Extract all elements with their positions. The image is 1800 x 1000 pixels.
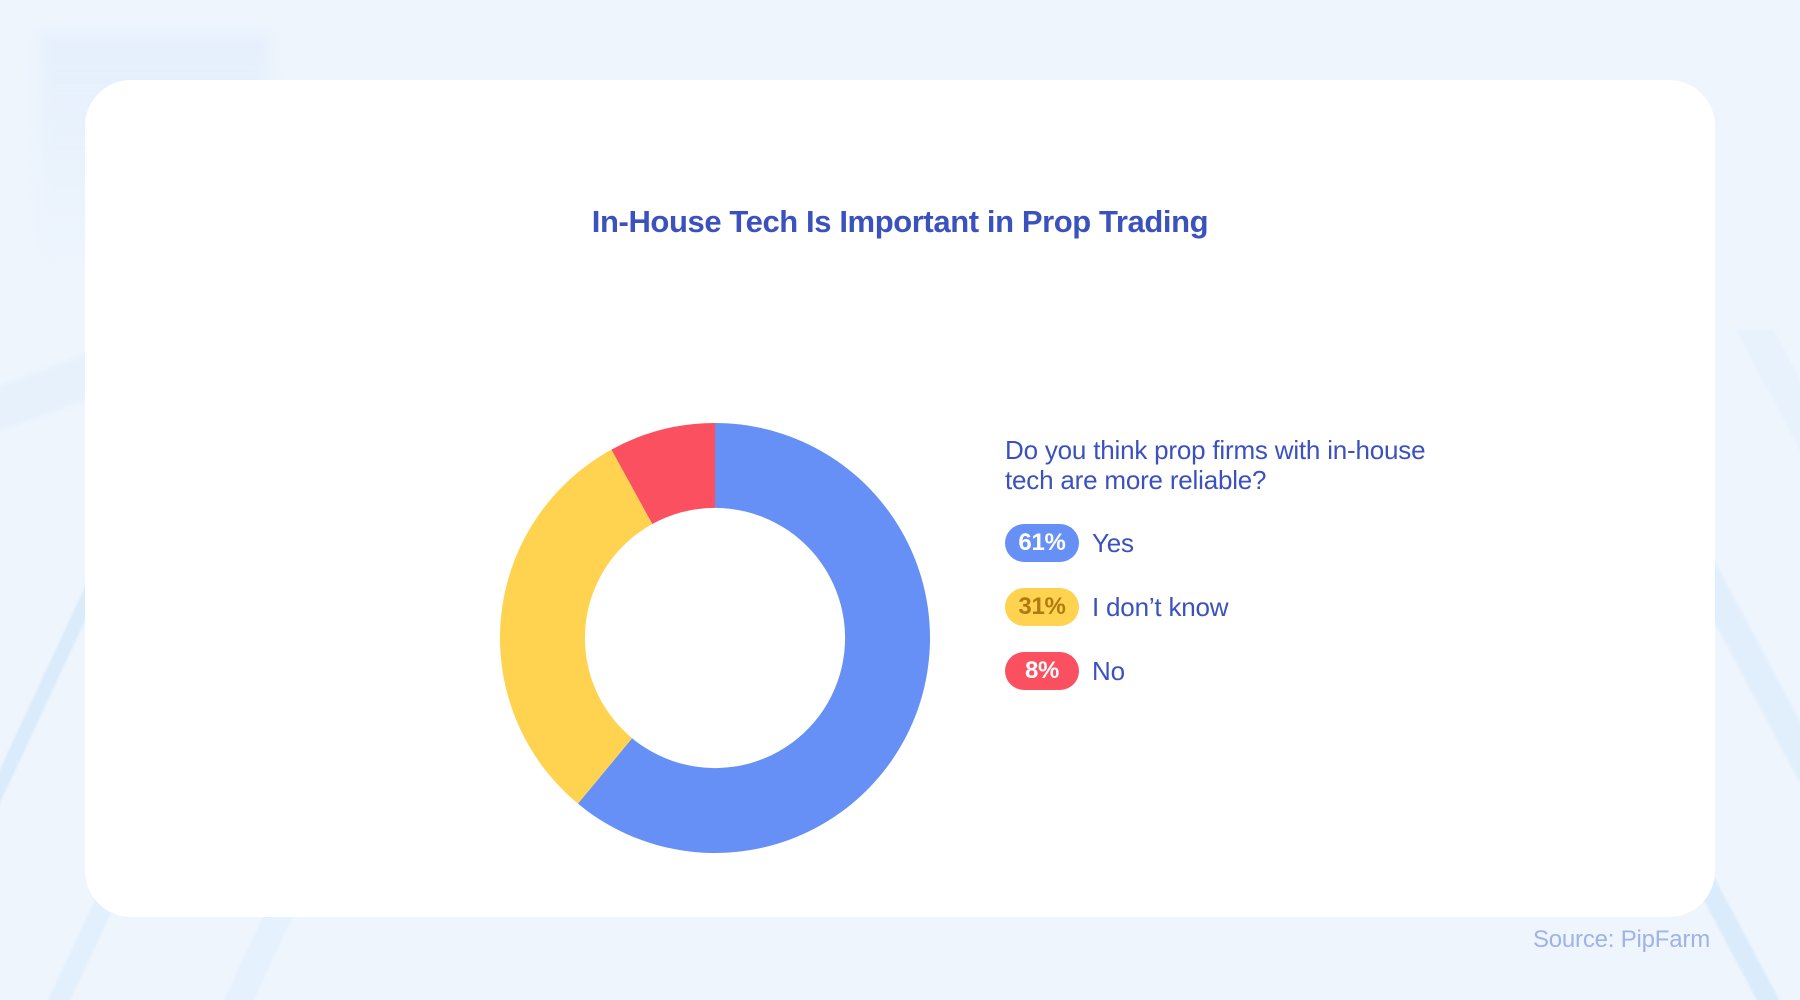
page-title: In-House Tech Is Important in Prop Tradi…	[85, 204, 1715, 240]
source-attribution: Source: PipFarm	[1533, 926, 1710, 954]
legend-badge-no: 8%	[1005, 652, 1079, 690]
legend-badge-yes: 61%	[1005, 524, 1079, 562]
infographic-canvas: In-House Tech Is Important in Prop Tradi…	[0, 0, 1800, 1000]
chart-card: In-House Tech Is Important in Prop Tradi…	[85, 80, 1715, 917]
legend-question: Do you think prop firms with in-house te…	[1005, 435, 1445, 495]
donut-chart-svg	[500, 423, 930, 853]
legend: Do you think prop firms with in-house te…	[1005, 435, 1625, 713]
donut-slice-group	[500, 423, 930, 853]
legend-item-i-dont-know[interactable]: 31% I don’t know	[1005, 585, 1625, 629]
legend-badge-i-dont-know: 31%	[1005, 588, 1079, 626]
legend-label-i-dont-know: I don’t know	[1092, 592, 1228, 623]
donut-chart	[500, 423, 930, 853]
legend-item-no[interactable]: 8% No	[1005, 649, 1625, 693]
legend-label-no: No	[1092, 656, 1125, 687]
legend-item-yes[interactable]: 61% Yes	[1005, 521, 1625, 565]
legend-label-yes: Yes	[1092, 528, 1134, 559]
